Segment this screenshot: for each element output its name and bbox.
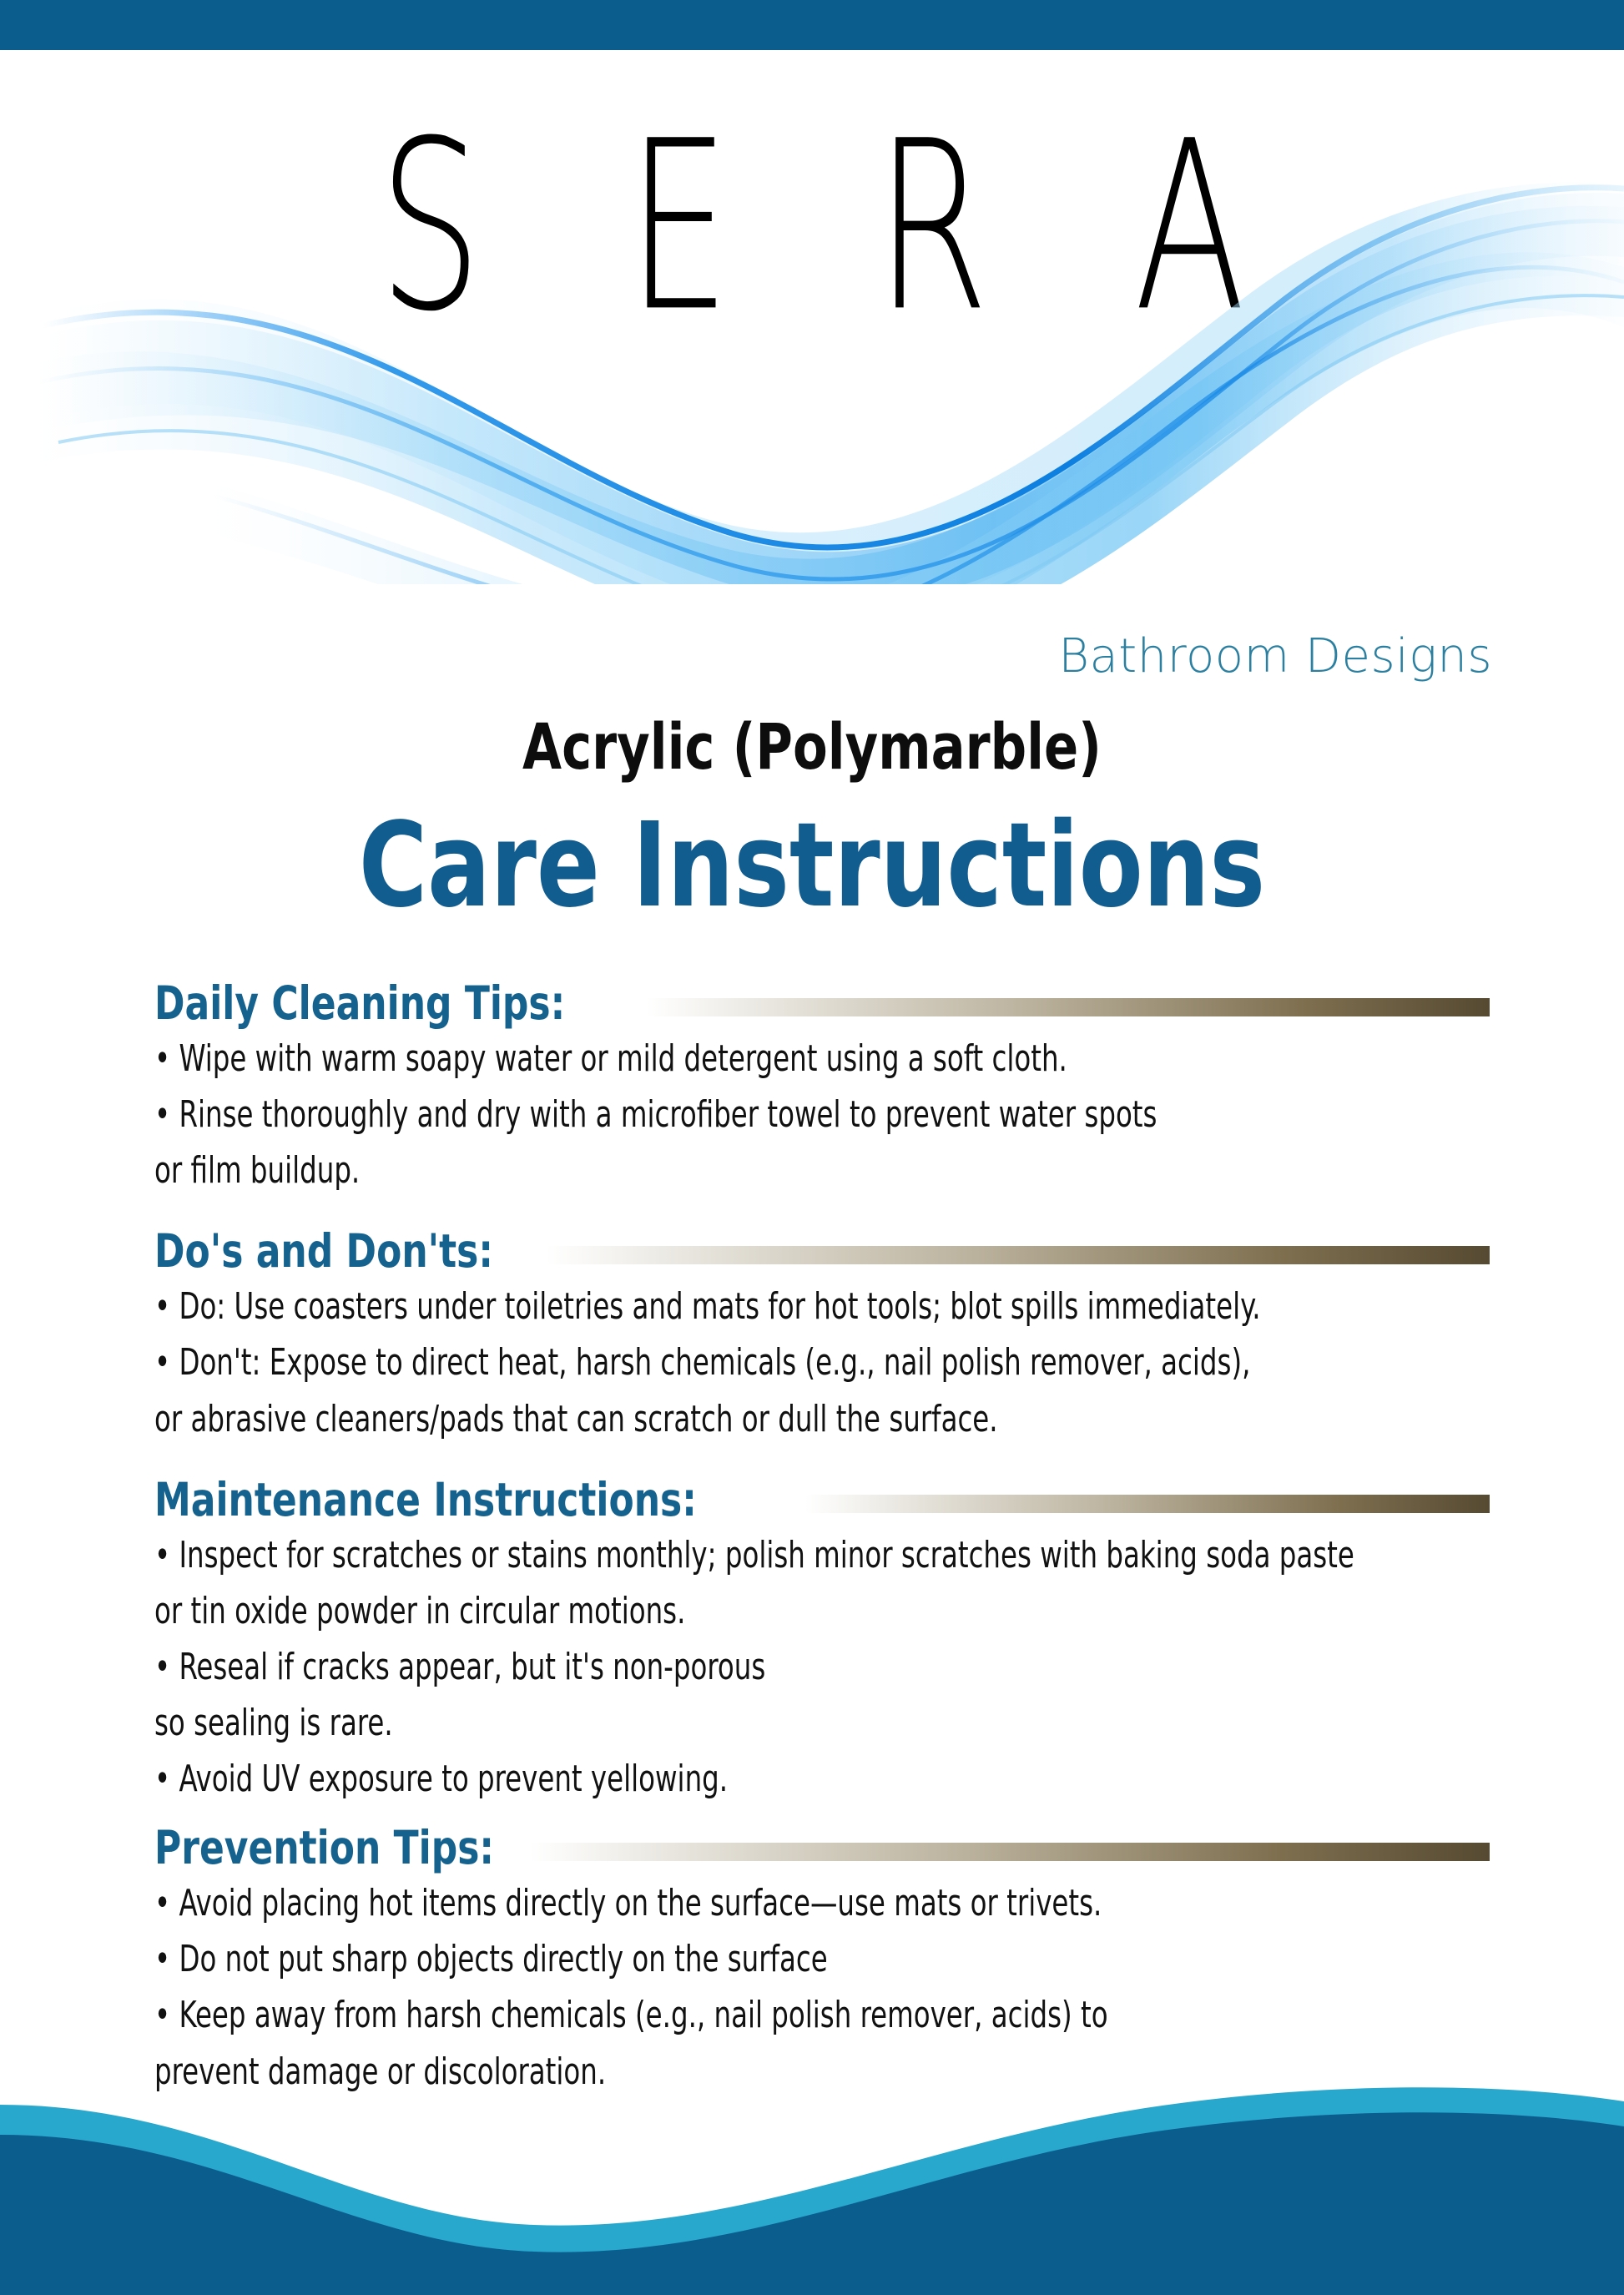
section-body: • Wipe with warm soapy water or mild det… bbox=[154, 1031, 1490, 1198]
care-instructions-content: Daily Cleaning Tips: • Wipe with warm so… bbox=[154, 975, 1490, 2101]
section-heading-maintenance-instructions: Maintenance Instructions: bbox=[154, 1477, 697, 1523]
section-heading-daily-cleaning-tips: Daily Cleaning Tips: bbox=[154, 981, 565, 1026]
section-body: • Do: Use coasters under toiletries and … bbox=[154, 1279, 1490, 1445]
section-divider-rule bbox=[647, 998, 1490, 1016]
bullet-line: • Don't: Expose to direct heat, harsh ch… bbox=[154, 1335, 1249, 1390]
section-dos-and-donts: Do's and Don'ts: • Do: Use coasters unde… bbox=[154, 1223, 1490, 1445]
page-title: Care Instructions bbox=[163, 808, 1462, 925]
brand-wordmark: S E R A bbox=[179, 110, 1445, 344]
bullet-line: • Avoid placing hot items directly on th… bbox=[154, 1876, 1249, 1930]
bullet-line: • Inspect for scratches or stains monthl… bbox=[154, 1528, 1249, 1582]
section-heading-dos-and-donts: Do's and Don'ts: bbox=[154, 1228, 493, 1274]
bullet-line: • Avoid UV exposure to prevent yellowing… bbox=[154, 1752, 1249, 1806]
top-accent-bar bbox=[0, 0, 1624, 50]
bullet-line-continuation: so sealing is rare. bbox=[154, 1696, 1249, 1750]
section-daily-cleaning-tips: Daily Cleaning Tips: • Wipe with warm so… bbox=[154, 975, 1490, 1198]
section-header: Prevention Tips: bbox=[154, 1819, 1490, 1871]
section-heading-prevention-tips: Prevention Tips: bbox=[154, 1825, 494, 1871]
bullet-line-continuation: or tin oxide powder in circular motions. bbox=[154, 1584, 1249, 1638]
section-header: Maintenance Instructions: bbox=[154, 1471, 1490, 1523]
brand-logo-block: S E R A bbox=[0, 50, 1624, 684]
section-body: • Inspect for scratches or stains monthl… bbox=[154, 1528, 1490, 1807]
section-divider-rule bbox=[530, 1843, 1490, 1861]
bullet-line-continuation: or film buildup. bbox=[154, 1143, 1249, 1198]
bullet-line: • Reseal if cracks appear, but it's non-… bbox=[154, 1640, 1249, 1694]
product-subtitle: Acrylic (Polymarble) bbox=[163, 715, 1462, 779]
section-divider-rule bbox=[805, 1495, 1490, 1513]
section-divider-rule bbox=[547, 1246, 1490, 1264]
bullet-line: • Wipe with warm soapy water or mild det… bbox=[154, 1031, 1249, 1086]
brand-tagline: Bathroom Designs bbox=[1058, 629, 1492, 683]
footer-wave-graphic bbox=[0, 2053, 1624, 2295]
bullet-line: • Do not put sharp objects directly on t… bbox=[154, 1932, 1249, 1986]
section-header: Daily Cleaning Tips: bbox=[154, 975, 1490, 1026]
bullet-line: • Do: Use coasters under toiletries and … bbox=[154, 1279, 1249, 1334]
bullet-line-continuation: or abrasive cleaners/pads that can scrat… bbox=[154, 1392, 1249, 1446]
section-maintenance-instructions: Maintenance Instructions: • Inspect for … bbox=[154, 1471, 1490, 1807]
bullet-line: • Rinse thoroughly and dry with a microf… bbox=[154, 1087, 1249, 1142]
section-header: Do's and Don'ts: bbox=[154, 1223, 1490, 1274]
bullet-line: • Keep away from harsh chemicals (e.g., … bbox=[154, 1988, 1249, 2042]
